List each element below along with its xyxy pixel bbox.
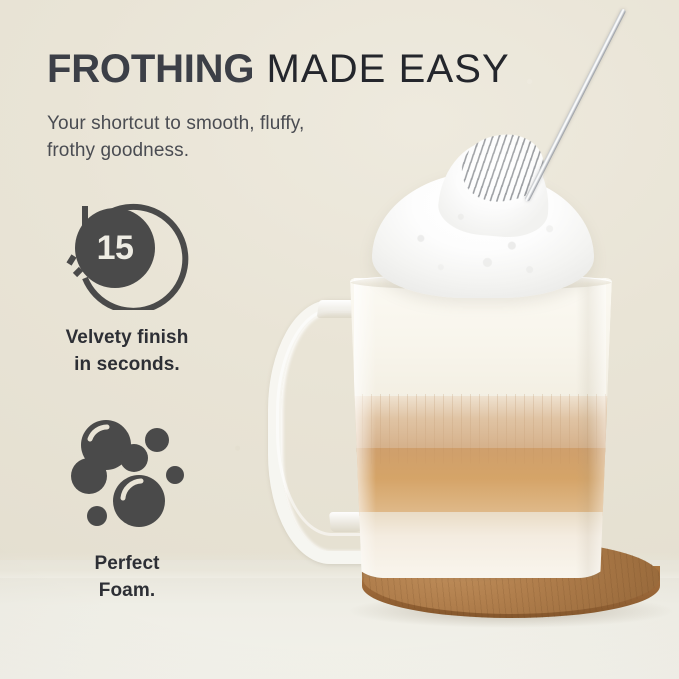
timer-value: 15 (97, 229, 134, 267)
bubble-small-behind (120, 444, 148, 472)
headline-light: MADE EASY (254, 47, 510, 91)
feature-2-line-1: Perfect (12, 550, 242, 577)
feature-2-line-2: Foam. (12, 577, 242, 604)
headline-strong: FROTHING (47, 47, 254, 91)
bubble-tiny-lower-left (87, 506, 107, 526)
feature-1-line-1: Velvety finish (12, 324, 242, 351)
page-title: FROTHING MADE EASY (47, 46, 510, 92)
feature-1-line-2: in seconds. (12, 351, 242, 378)
feature-perfect-foam-label: Perfect Foam. (12, 550, 242, 604)
subtitle-line-1: Your shortcut to smooth, fluffy, (47, 110, 387, 137)
product-marketing-image: FROTHING MADE EASY Your shortcut to smoo… (0, 0, 679, 679)
feature-velvety-finish: 15 Velvety finish in seconds. (12, 192, 242, 378)
bubble-medium-left (71, 458, 107, 494)
timer-15-seconds-icon: 15 (47, 192, 207, 310)
foam-bubbles-icon (47, 418, 207, 536)
bubble-small-top-right (145, 428, 169, 452)
subtitle-line-2: frothy goodness. (47, 137, 387, 164)
feature-velvety-finish-label: Velvety finish in seconds. (12, 324, 242, 378)
bubble-tiny-right (166, 466, 184, 484)
subtitle: Your shortcut to smooth, fluffy, frothy … (47, 110, 387, 164)
feature-perfect-foam: Perfect Foam. (12, 418, 242, 604)
